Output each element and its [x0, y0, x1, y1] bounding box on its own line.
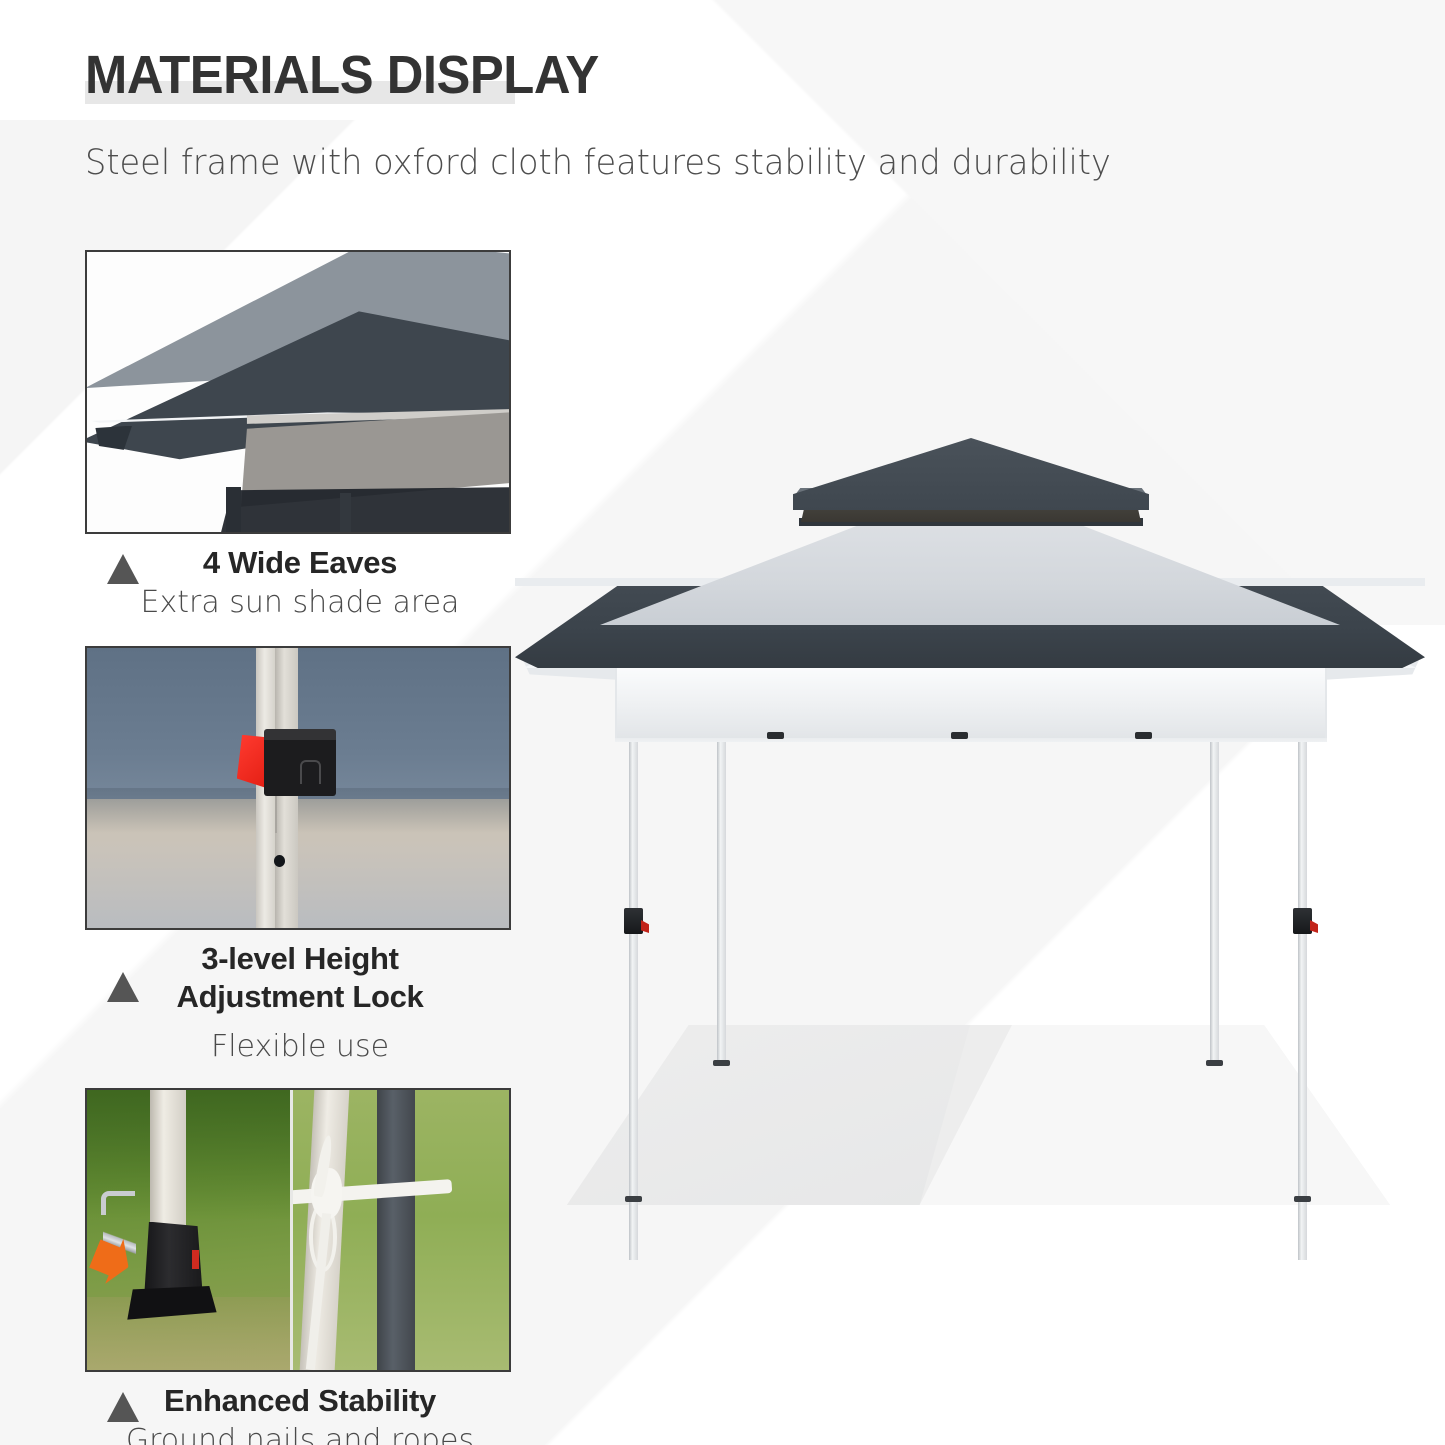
foot-red-marker — [192, 1250, 199, 1270]
feature-item-stability: Enhanced Stability Ground nails and rope… — [85, 1088, 515, 1445]
feature-subtitle: Flexible use — [85, 1028, 515, 1066]
ground-stake-hook — [101, 1191, 134, 1216]
feature-photo-stability — [85, 1088, 511, 1372]
feature-item-wide-eaves: 4 Wide Eaves Extra sun shade area — [85, 250, 515, 622]
materials-display-page: MATERIALS DISPLAY Steel frame with oxfor… — [0, 0, 1445, 1445]
title-wrapper: MATERIALS DISPLAY — [85, 44, 632, 106]
feature-title-line1: 3-level Height — [85, 940, 515, 978]
lock-housing-top — [264, 729, 336, 740]
gazebo-vent-cap — [793, 438, 1149, 510]
gazebo-leg-inner-right — [1210, 740, 1219, 1062]
gazebo-valance — [615, 666, 1327, 738]
pole-adjustment-hole — [274, 855, 285, 867]
feature-title: 4 Wide Eaves — [85, 544, 515, 582]
gazebo-valance-clip — [951, 732, 968, 739]
feature-item-height-lock: 3-level Height Adjustment Lock Flexible … — [85, 646, 515, 1066]
canopy-eave-photo — [87, 252, 509, 532]
gazebo-leg-inner-left — [717, 740, 726, 1062]
pole-seam — [275, 794, 277, 833]
gazebo-valance-clip — [1135, 732, 1152, 739]
gazebo-leg-pole — [150, 1090, 186, 1241]
feature-subtitle: Ground nails and ropes — [85, 1422, 515, 1445]
gazebo-height-lock-outer-right — [1293, 908, 1312, 934]
gazebo-foot-inner-right — [1206, 1060, 1223, 1066]
page-header: MATERIALS DISPLAY Steel frame with oxfor… — [85, 44, 1205, 184]
feature-caption-wide-eaves: 4 Wide Eaves Extra sun shade area — [85, 534, 515, 622]
feature-title: Enhanced Stability — [85, 1382, 515, 1420]
page-title: MATERIALS DISPLAY — [85, 44, 599, 106]
gazebo-foot-outer-right — [1294, 1196, 1311, 1202]
canopy-under-shadow — [214, 487, 511, 534]
gazebo-leg-outer-right — [1298, 740, 1307, 1260]
feature-photo-wide-eaves — [85, 250, 511, 534]
product-render-gazebo — [505, 410, 1435, 1200]
feature-photo-height-lock — [85, 646, 511, 930]
lock-red-lever — [1310, 920, 1318, 933]
photo-split-divider — [290, 1090, 293, 1370]
rope-photo-half — [290, 1090, 509, 1370]
feature-subtitle: Extra sun shade area — [85, 584, 515, 622]
feature-title-line2: Adjustment Lock — [85, 978, 515, 1016]
lock-arch-glyph — [300, 760, 321, 784]
feature-list: 4 Wide Eaves Extra sun shade area — [85, 250, 515, 1445]
gazebo-leg-outer-left — [629, 740, 638, 1260]
feature-caption-stability: Enhanced Stability Ground nails and rope… — [85, 1372, 515, 1445]
gazebo-foot-outer-left — [625, 1196, 642, 1202]
gazebo-height-lock-outer-left — [624, 908, 643, 934]
stake-photo-half — [87, 1090, 290, 1370]
triangle-up-icon — [107, 1392, 139, 1422]
page-subtitle: Steel frame with oxford cloth features s… — [85, 142, 1160, 184]
stability-photo — [87, 1090, 509, 1370]
canopy-post-right — [340, 493, 351, 534]
gazebo-foot-inner-left — [713, 1060, 730, 1066]
lock-red-lever — [641, 920, 649, 933]
canopy-post-left — [226, 487, 241, 534]
gazebo-valance-clip — [767, 732, 784, 739]
feature-caption-height-lock: 3-level Height Adjustment Lock Flexible … — [85, 930, 515, 1066]
triangle-up-icon — [107, 554, 139, 584]
height-lock-photo — [87, 648, 509, 928]
triangle-up-icon — [107, 972, 139, 1002]
rope-pole-dark — [377, 1090, 414, 1370]
